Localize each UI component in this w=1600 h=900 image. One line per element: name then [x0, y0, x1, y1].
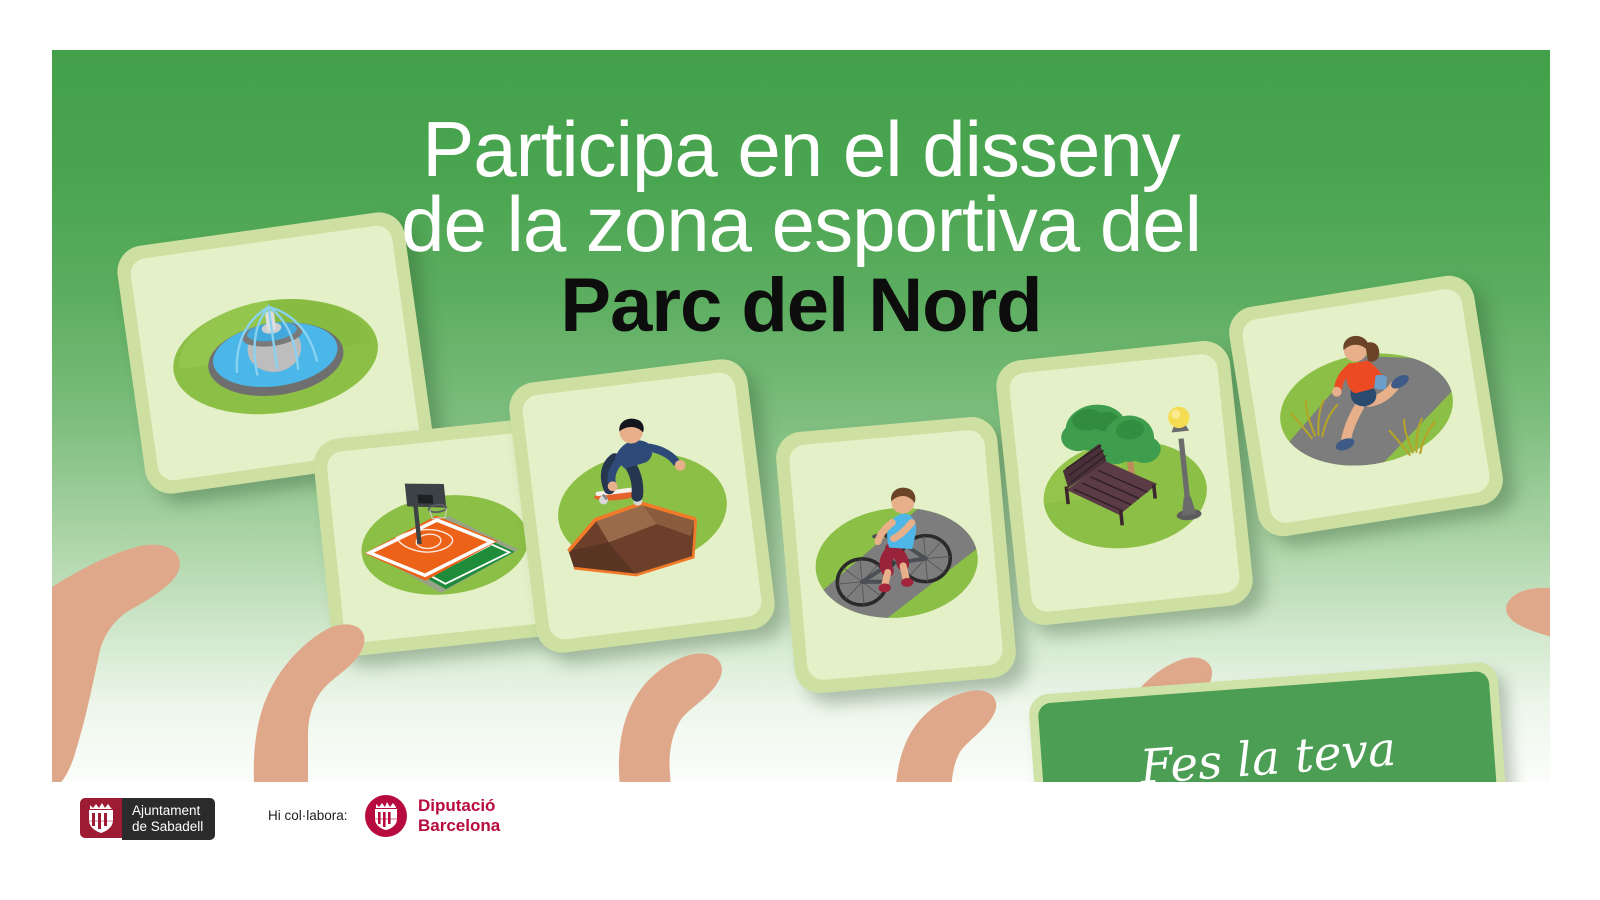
diputacio-logo[interactable]: Diputació Barcelona: [365, 795, 500, 837]
hand-center-left: [562, 548, 822, 782]
sabadell-logo[interactable]: Ajuntament de Sabadell: [80, 798, 215, 840]
diputacio-line-1: Diputació: [418, 796, 500, 816]
sabadell-crest-icon: [80, 798, 122, 838]
sabadell-line-2: de Sabadell: [132, 819, 203, 835]
sabadell-line-1: Ajuntament: [132, 803, 203, 819]
headline-line-1: Participa en el disseny: [52, 112, 1550, 187]
hand-left-inner: [202, 500, 442, 782]
cta-line-1: Fes la teva: [1138, 724, 1397, 782]
diputacio-crest-icon: [365, 795, 407, 837]
collaborator-label: Hi col·labora:: [268, 808, 348, 823]
sabadell-wordmark: Ajuntament de Sabadell: [122, 798, 215, 840]
promo-banner: Participa en el disseny de la zona espor…: [52, 50, 1550, 782]
diputacio-wordmark: Diputació Barcelona: [418, 796, 500, 835]
footer-logos: Ajuntament de Sabadell Hi col·labora: Di…: [0, 782, 1600, 900]
diputacio-line-2: Barcelona: [418, 816, 500, 836]
